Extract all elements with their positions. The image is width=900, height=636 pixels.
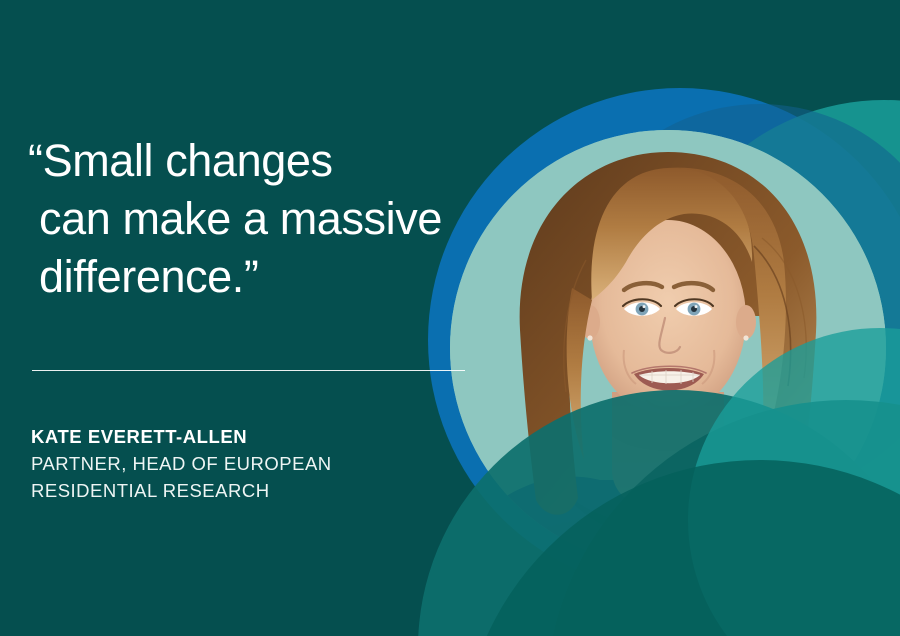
teal-right-circle: [652, 100, 900, 564]
quote-card: “Small changes can make a massive differ…: [0, 0, 900, 636]
pull-quote: “Small changes can make a massive differ…: [28, 132, 498, 306]
green-bottom-circle: [546, 400, 900, 636]
divider-rule: [32, 370, 465, 371]
quote-line-2: can make a massive: [28, 190, 498, 248]
decorative-circles-artwork: [0, 0, 900, 636]
person-title-line-1: PARTNER, HEAD OF EUROPEAN: [31, 450, 332, 477]
person-title-line-2: RESIDENTIAL RESEARCH: [31, 477, 332, 504]
blue-inner-crescent: [564, 104, 900, 496]
teal-bottom-circle: [418, 390, 900, 636]
dark-green-base-circle: [460, 460, 900, 636]
blue-outer-circle: [428, 88, 900, 592]
mouth: [632, 366, 706, 390]
attribution-block: KATE EVERETT-ALLEN PARTNER, HEAD OF EURO…: [31, 424, 332, 504]
quote-line-1: “Small changes: [28, 132, 498, 190]
face: [590, 220, 746, 416]
eyes: [623, 299, 713, 316]
quote-line-3: difference.”: [28, 248, 498, 306]
person-name: KATE EVERETT-ALLEN: [31, 424, 332, 450]
portrait-photo: [440, 120, 900, 600]
pale-teal-portrait-disc: [450, 130, 886, 566]
teal-lower-right-circle: [688, 328, 900, 636]
